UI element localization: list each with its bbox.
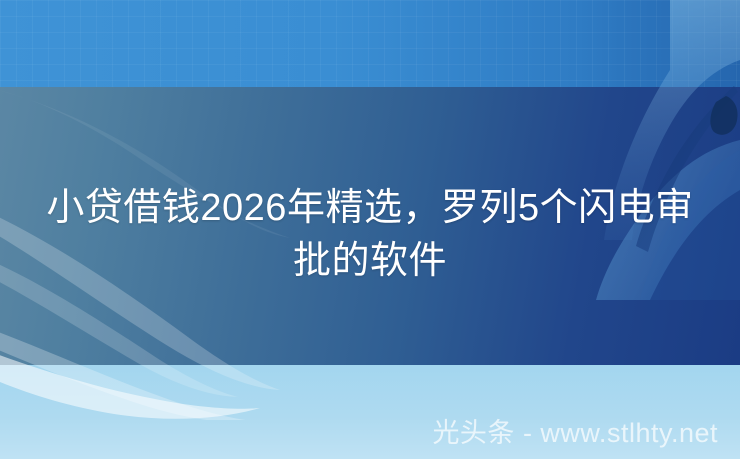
grid-texture-overlay <box>0 0 740 87</box>
top-color-band <box>0 0 740 87</box>
promo-banner: 小贷借钱2026年精选，罗列5个闪电审批的软件 光头条 - www.stlhty… <box>0 0 740 459</box>
site-watermark: 光头条 - www.stlhty.net <box>432 418 718 448</box>
banner-title: 小贷借钱2026年精选，罗列5个闪电审批的软件 <box>0 182 740 288</box>
